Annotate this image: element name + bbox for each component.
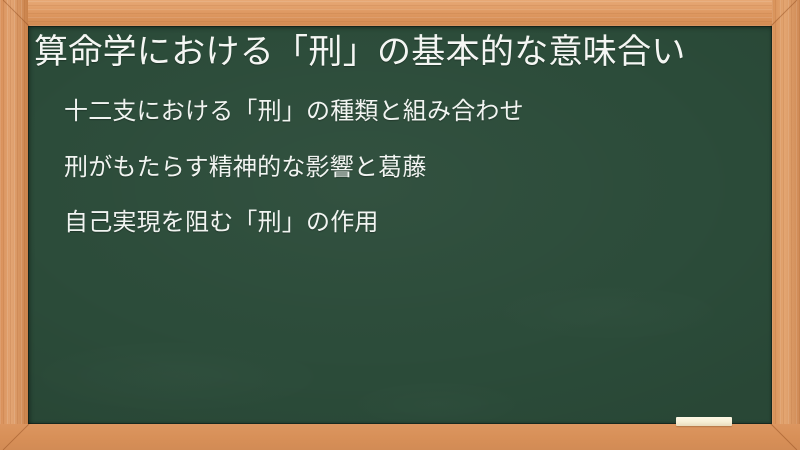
frame-ledge-bottom [0,424,800,450]
slide-content: 算命学における「刑」の基本的な意味合い 十二支における「刑」の種類と組み合わせ … [28,26,772,424]
chalk-stick-icon [676,417,732,426]
chalkboard-slide: 算命学における「刑」の基本的な意味合い 十二支における「刑」の種類と組み合わせ … [0,0,800,450]
frame-rail-right [772,0,800,450]
chalkboard-surface: 算命学における「刑」の基本的な意味合い 十二支における「刑」の種類と組み合わせ … [28,26,772,424]
frame-rail-left [0,0,28,450]
list-item: 十二支における「刑」の種類と組み合わせ [64,98,754,126]
list-item: 刑がもたらす精神的な影響と葛藤 [64,154,754,182]
bullet-list: 十二支における「刑」の種類と組み合わせ 刑がもたらす精神的な影響と葛藤 自己実現… [34,98,754,237]
slide-title: 算命学における「刑」の基本的な意味合い [34,30,754,74]
frame-rail-top [0,0,800,26]
list-item: 自己実現を阻む「刑」の作用 [64,209,754,237]
